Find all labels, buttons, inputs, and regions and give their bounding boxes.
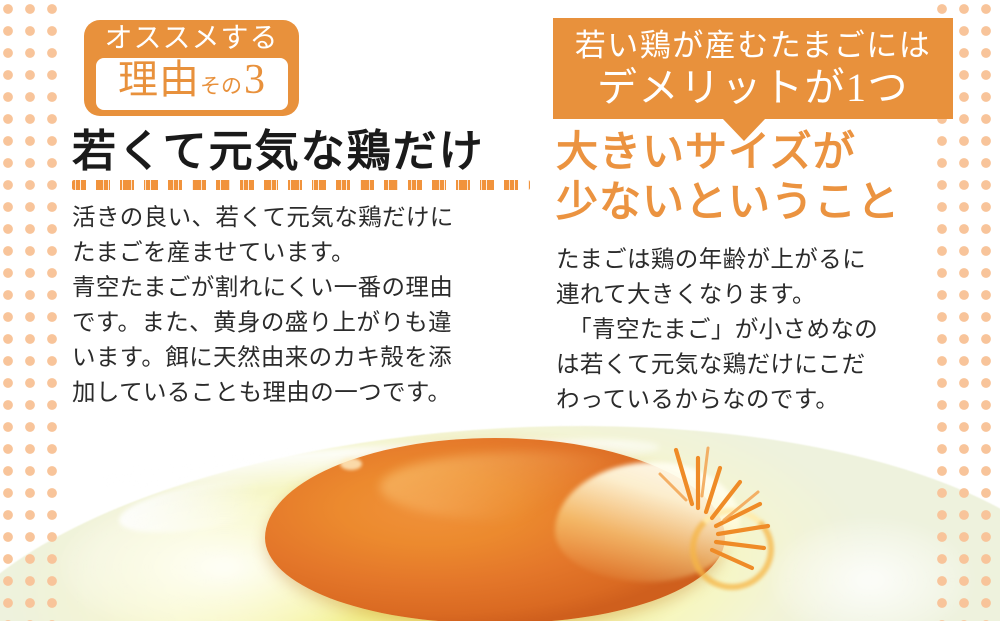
reason-badge-top-label: オススメする [104, 22, 278, 56]
demerit-speech-bubble: 若い鶏が産むたまごには デメリットが1つ [553, 18, 953, 119]
left-column-heading: 若くて元気な鶏だけ [72, 126, 542, 178]
reason-sono: その [200, 64, 242, 108]
left-column: 若くて元気な鶏だけ 活きの良い、若くて元気な鶏だけに たまごを産ませています。 … [72, 126, 542, 410]
speech-bubble-tail [722, 118, 766, 141]
speech-bubble-line-2: デメリットが1つ [597, 65, 909, 111]
speech-bubble-line-1: 若い鶏が産むたまごには [575, 27, 932, 65]
egg-photo [0, 400, 1000, 621]
reason-badge: オススメする 理由 その 3 [84, 20, 299, 116]
left-heading-brush-underline [72, 180, 530, 190]
reason-number: 3 [242, 58, 265, 102]
egg-yolk-specular [340, 458, 362, 470]
promo-page: オススメする 理由 その 3 若い鶏が産むたまごには デメリットが1つ 若くて元… [0, 0, 1000, 621]
reason-word: 理由 [118, 58, 200, 102]
right-column-body: たまごは鶏の年齢が上がるに 連れて大きくなります。 「青空たまご」が小さめなの … [556, 242, 956, 417]
right-column-heading-line-2: 少ないということ [556, 178, 956, 228]
left-column-body: 活きの良い、若くて元気な鶏だけに たまごを産ませています。 青空たまごが割れにく… [72, 200, 542, 410]
egg-yolk-rim [690, 508, 774, 590]
right-column: 大きいサイズが 少ないということ たまごは鶏の年齢が上がるに 連れて大きくなりま… [556, 128, 956, 417]
reason-badge-inner-box: 理由 その 3 [96, 58, 288, 110]
